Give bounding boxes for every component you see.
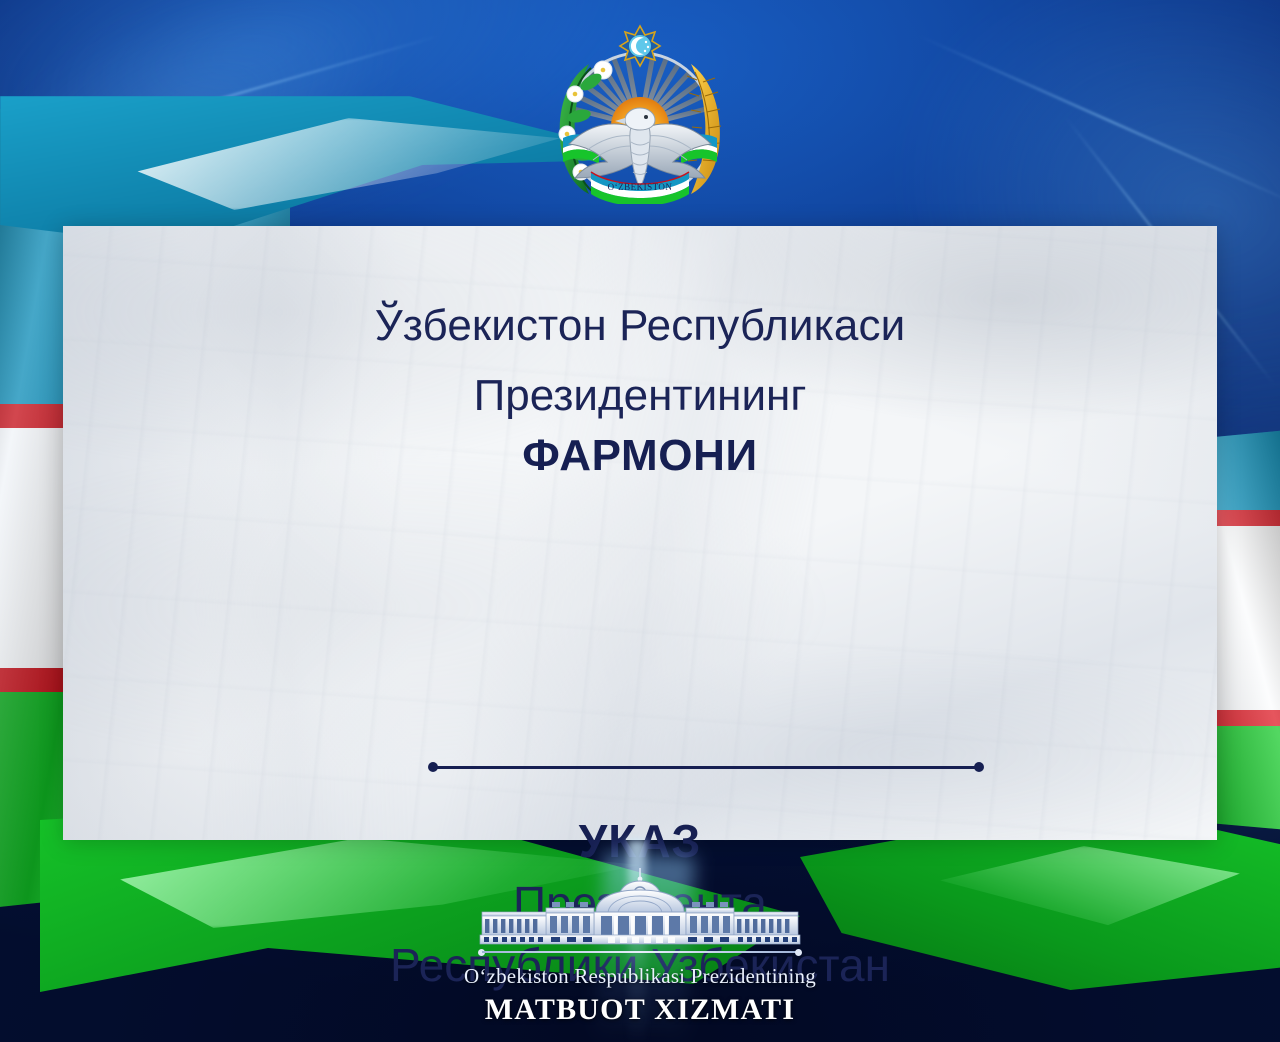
logo-divider-bar <box>482 951 798 953</box>
coat-of-arms-of-uzbekistan-icon: O‘ZBEKISTON <box>545 22 735 204</box>
logo-divider <box>478 949 802 956</box>
divider-bar <box>433 766 979 769</box>
logo-divider-dot-right <box>795 949 802 956</box>
uzbek-title-decree: ФАРМОНИ <box>522 434 757 478</box>
svg-text:O‘ZBEKISTON: O‘ZBEKISTON <box>608 182 673 192</box>
uzbek-title-line2: Президентининг <box>474 374 807 418</box>
oqsaroy-palace-icon <box>468 868 812 946</box>
press-service-logo: O‘zbekiston Respublikasi Prezidentining … <box>0 868 1280 1027</box>
poster-canvas: O‘ZBEKISTON Ўзбекистон Республикаси През… <box>0 0 1280 1042</box>
decree-card: Ўзбекистон Республикаси Президентининг Ф… <box>63 226 1217 840</box>
section-divider <box>428 762 984 772</box>
press-service-line2: MATBUOT XIZMATI <box>485 993 796 1027</box>
divider-dot-right <box>974 762 984 772</box>
press-service-line1: O‘zbekiston Respublikasi Prezidentining <box>464 964 816 989</box>
uzbek-title-line1: Ўзбекистон Республикаси <box>375 304 906 348</box>
